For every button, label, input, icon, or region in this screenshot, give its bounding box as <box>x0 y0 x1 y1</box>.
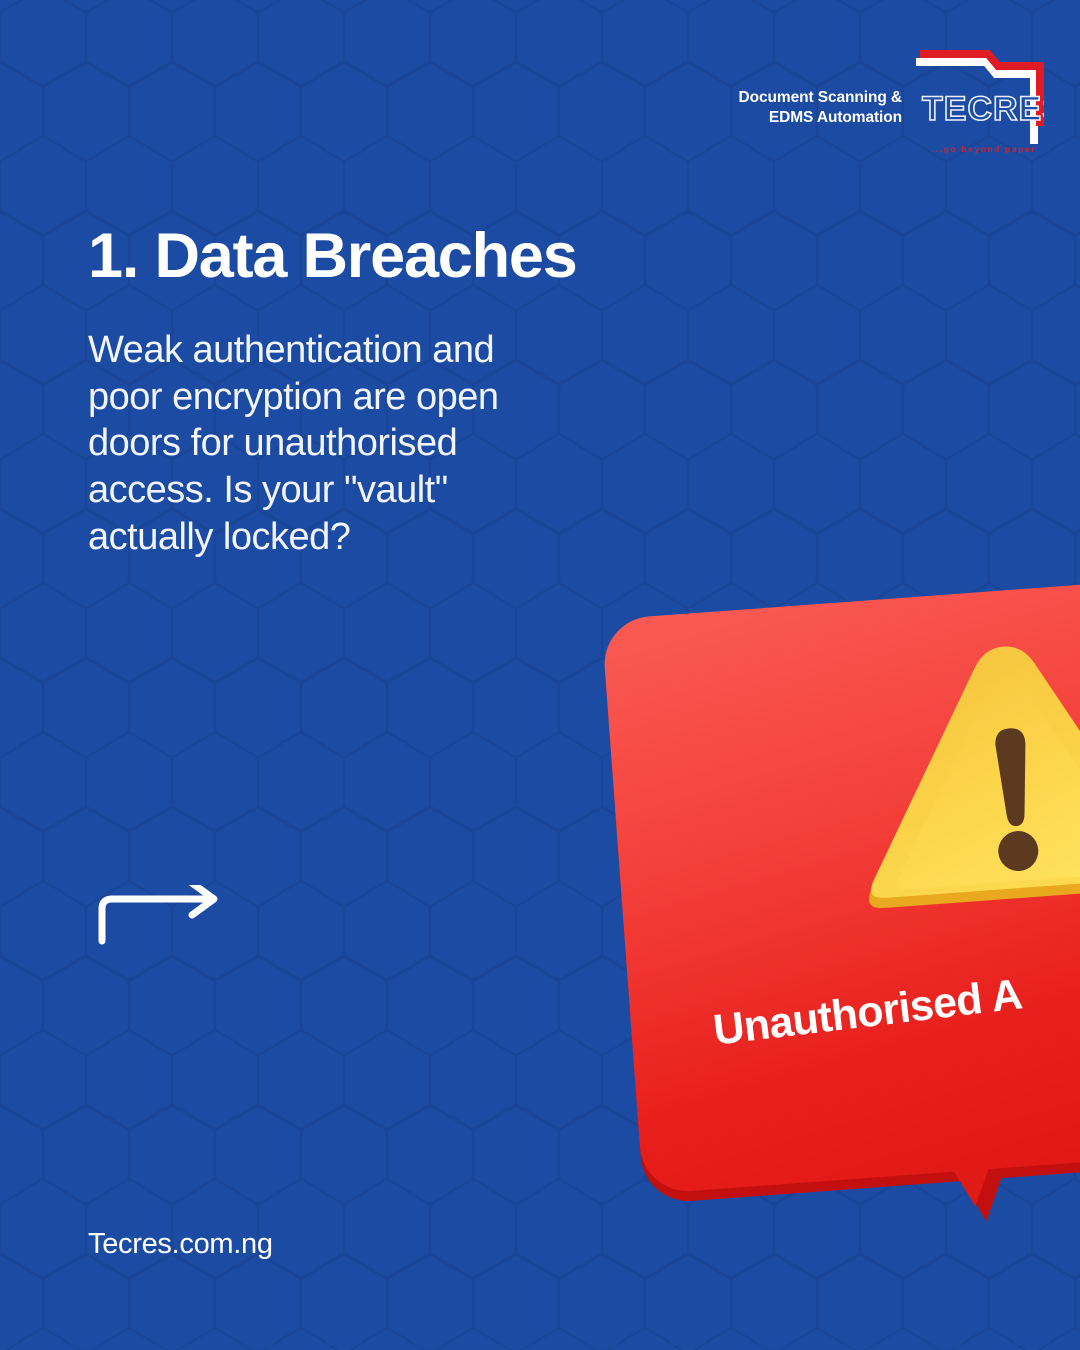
tecres-logo-mark: TECRES ...go beyond paper <box>916 48 1044 152</box>
callout-speech-bubble: Unauthorised A <box>590 560 1080 1259</box>
social-post-canvas: Document Scanning & EDMS Automation TECR… <box>0 0 1080 1350</box>
swipe-right-arrow-icon[interactable] <box>96 885 236 945</box>
logo-tagline-text: ...go beyond paper <box>924 144 1044 154</box>
warning-triangle-icon <box>838 625 1080 948</box>
service-line-text: Document Scanning & EDMS Automation <box>739 48 902 128</box>
body-paragraph: Weak authentication and poor encryption … <box>88 327 628 561</box>
page-title: 1. Data Breaches <box>88 222 577 290</box>
svg-text:TECRES: TECRES <box>922 90 1044 128</box>
brand-logo-lockup: Document Scanning & EDMS Automation TECR… <box>739 48 1044 152</box>
footer-website-url[interactable]: Tecres.com.ng <box>88 1228 273 1261</box>
